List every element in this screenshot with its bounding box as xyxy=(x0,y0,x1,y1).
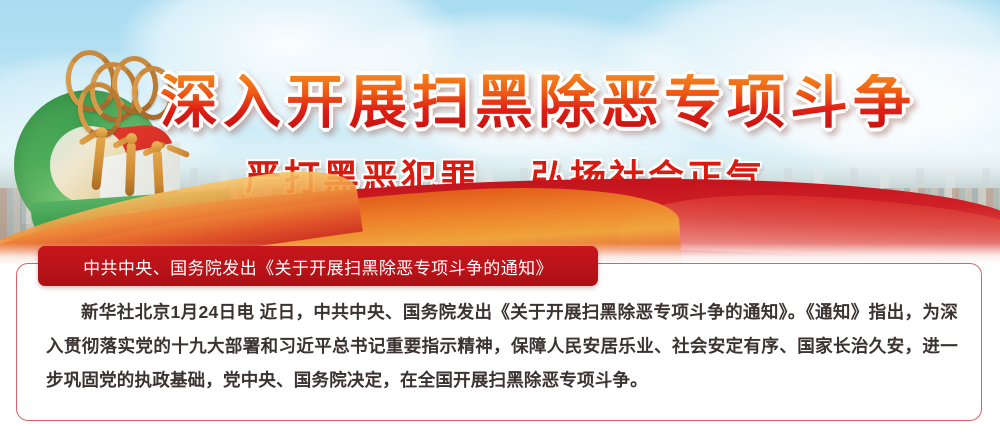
notice-title-bar[interactable]: 中共中央、国务院发出《关于开展扫黑除恶专项斗争的通知》 xyxy=(38,246,598,286)
hero-headline: 深入开展扫黑除恶专项斗争 xyxy=(160,74,916,132)
page-root: 深入开展扫黑除恶专项斗争 严打黑恶犯罪 弘扬社会正气 中共中央、国务院发出《关于… xyxy=(0,0,1000,440)
notice-title-text: 中共中央、国务院发出《关于开展扫黑除恶专项斗争的通知》 xyxy=(83,254,553,279)
golden-figure xyxy=(125,142,136,196)
hero-banner: 深入开展扫黑除恶专项斗争 严打黑恶犯罪 弘扬社会正气 xyxy=(0,0,1000,265)
article-paragraph: 新华社北京1月24日电 近日，中共中央、国务院发出《关于开展扫黑除恶专项斗争的通… xyxy=(46,295,958,397)
article-body: 新华社北京1月24日电 近日，中共中央、国务院发出《关于开展扫黑除恶专项斗争的通… xyxy=(46,295,958,397)
